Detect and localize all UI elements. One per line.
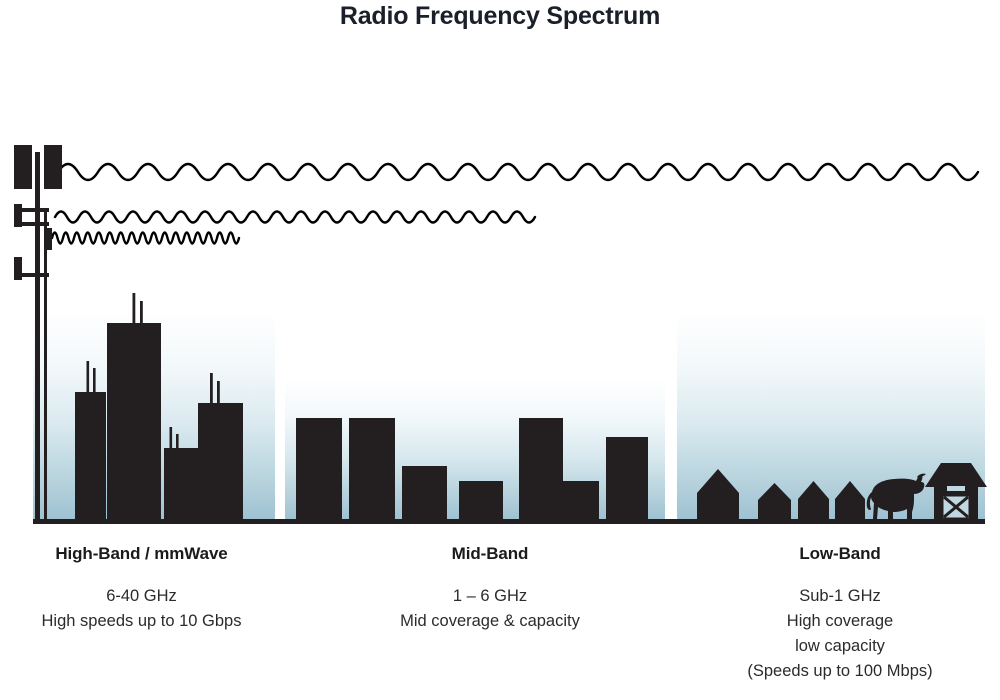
skyscraper-spire xyxy=(133,293,136,325)
building-block xyxy=(606,437,648,519)
tower-antenna-panel-mid2 xyxy=(44,228,52,250)
skyscraper-spire xyxy=(140,301,143,325)
diagram-canvas: Radio Frequency Spectrum xyxy=(0,0,1000,700)
band-title-high: High-Band / mmWave xyxy=(0,544,283,564)
building-block xyxy=(459,481,503,519)
barn-vent-window xyxy=(947,486,965,491)
mid-band-wave xyxy=(55,212,535,223)
band-frequency-mid: 1 – 6 GHz xyxy=(330,584,650,609)
building-tower xyxy=(198,403,243,519)
building-tower xyxy=(164,448,200,519)
building-block xyxy=(296,418,342,519)
building-block xyxy=(519,418,563,519)
band-speed-high: High speeds up to 10 Gbps xyxy=(0,609,283,634)
skyscraper-spire xyxy=(93,368,96,394)
band-capacity-low: low capacity xyxy=(680,634,1000,659)
tower-mast xyxy=(35,152,40,520)
radio-waves xyxy=(52,164,978,244)
tower-antenna-panel-top-right xyxy=(44,145,62,189)
tower-antenna-panel-top-left xyxy=(14,145,32,189)
skyscraper-spire xyxy=(87,361,90,394)
building-block xyxy=(563,481,599,519)
building-tower xyxy=(107,323,161,519)
band-captions: High-Band / mmWave 6-40 GHz High speeds … xyxy=(0,544,1000,700)
band-speed-mid: Mid coverage & capacity xyxy=(330,609,650,634)
low-band-wave xyxy=(58,164,978,180)
band-speed-low: (Speeds up to 100 Mbps) xyxy=(680,659,1000,684)
band-coverage-low: High coverage xyxy=(680,609,1000,634)
skyscraper-spire xyxy=(176,434,179,450)
caption-high-band: High-Band / mmWave 6-40 GHz High speeds … xyxy=(0,544,283,634)
tower-crossbar-mid-lower xyxy=(16,222,49,226)
skyscraper-spire xyxy=(170,427,173,450)
skyscraper-spire xyxy=(210,373,213,405)
band-title-mid: Mid-Band xyxy=(330,544,650,564)
band-frequency-low: Sub-1 GHz xyxy=(680,584,1000,609)
band-frequency-high: 6-40 GHz xyxy=(0,584,283,609)
skyscraper-spire xyxy=(217,381,220,405)
ground-line xyxy=(33,519,985,524)
caption-low-band: Low-Band Sub-1 GHz High coverage low cap… xyxy=(680,544,1000,684)
building-block xyxy=(349,418,395,519)
building-tower xyxy=(75,392,106,519)
building-block xyxy=(402,466,447,519)
band-title-low: Low-Band xyxy=(680,544,1000,564)
high-band-wave xyxy=(52,233,239,244)
tower-crossbar-mid-upper xyxy=(16,208,49,212)
tower-crossbar-lower xyxy=(16,273,49,277)
tower-mast-secondary xyxy=(44,208,47,520)
caption-mid-band: Mid-Band 1 – 6 GHz Mid coverage & capaci… xyxy=(330,544,650,634)
